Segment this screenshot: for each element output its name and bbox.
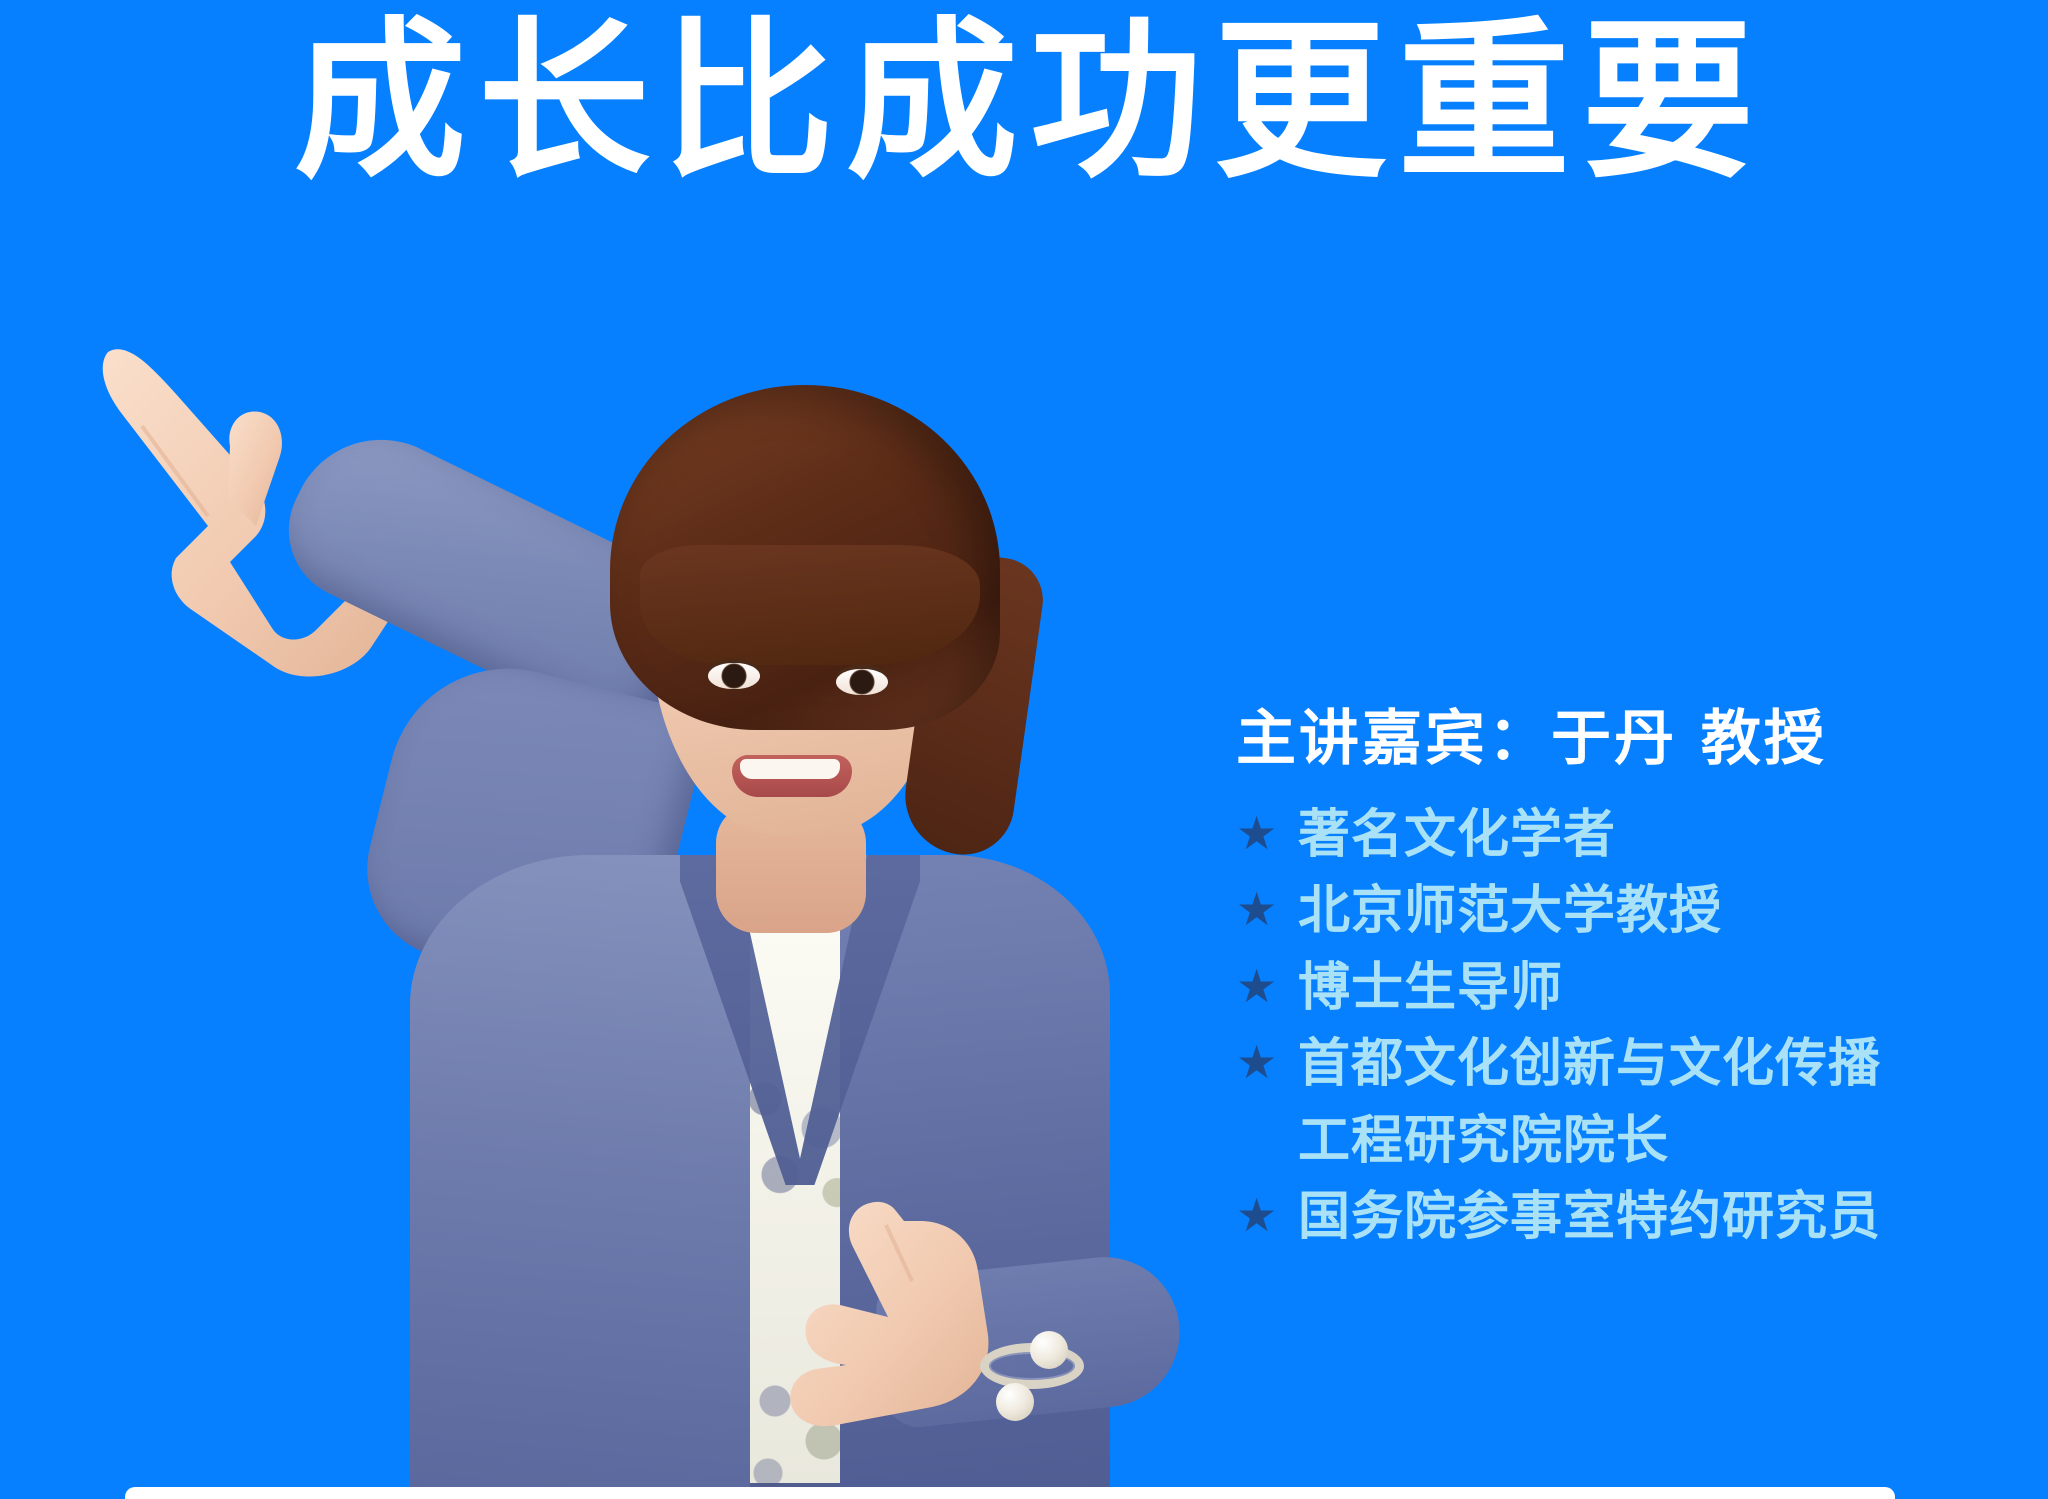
pointing-hand-icon [720,1185,1020,1445]
credential-item: ★ 著名文化学者 [1236,803,2048,867]
credential-label: 首都文化创新与文化传播 [1298,1032,1881,1096]
credential-label: 国务院参事室特约研究员 [1298,1185,1881,1249]
speaker-info-panel: 主讲嘉宾：于丹 教授 ★ 著名文化学者 ★ 北京师范大学教授 ★ 博士生导师 ★… [1236,690,2048,1262]
speaker-portrait [80,255,1280,1499]
cardigan-left-panel [410,855,750,1499]
star-icon: ★ [1236,956,1298,1018]
left-eye [708,663,760,689]
credential-label: 博士生导师 [1298,956,1563,1020]
bottom-panel-edge [125,1487,1895,1499]
star-icon: ★ [1236,1185,1298,1247]
page-title: 成长比成功更重要 [0,6,2048,199]
star-icon: ★ [1236,803,1298,865]
credential-item: ★ 北京师范大学教授 [1236,879,2048,943]
right-eye [836,669,888,695]
credential-label: 工程研究院院长 [1298,1109,1669,1173]
hair-bangs [640,545,980,665]
bracelet-pearl [996,1383,1034,1421]
credential-item-continuation: ★ 工程研究院院长 [1236,1109,2048,1173]
credential-item: ★ 首都文化创新与文化传播 [1236,1032,2048,1096]
credential-item: ★ 国务院参事室特约研究员 [1236,1185,2048,1249]
bracelet-pearl [1030,1331,1068,1369]
credentials-list: ★ 著名文化学者 ★ 北京师范大学教授 ★ 博士生导师 ★ 首都文化创新与文化传… [1236,803,2048,1250]
speaker-name-line: 主讲嘉宾：于丹 教授 [1236,690,2048,777]
credential-label: 著名文化学者 [1298,803,1616,867]
star-icon: ★ [1236,879,1298,941]
star-icon: ★ [1236,1032,1298,1094]
credential-label: 北京师范大学教授 [1298,879,1722,943]
credential-item: ★ 博士生导师 [1236,956,2048,1020]
teeth [740,759,840,779]
